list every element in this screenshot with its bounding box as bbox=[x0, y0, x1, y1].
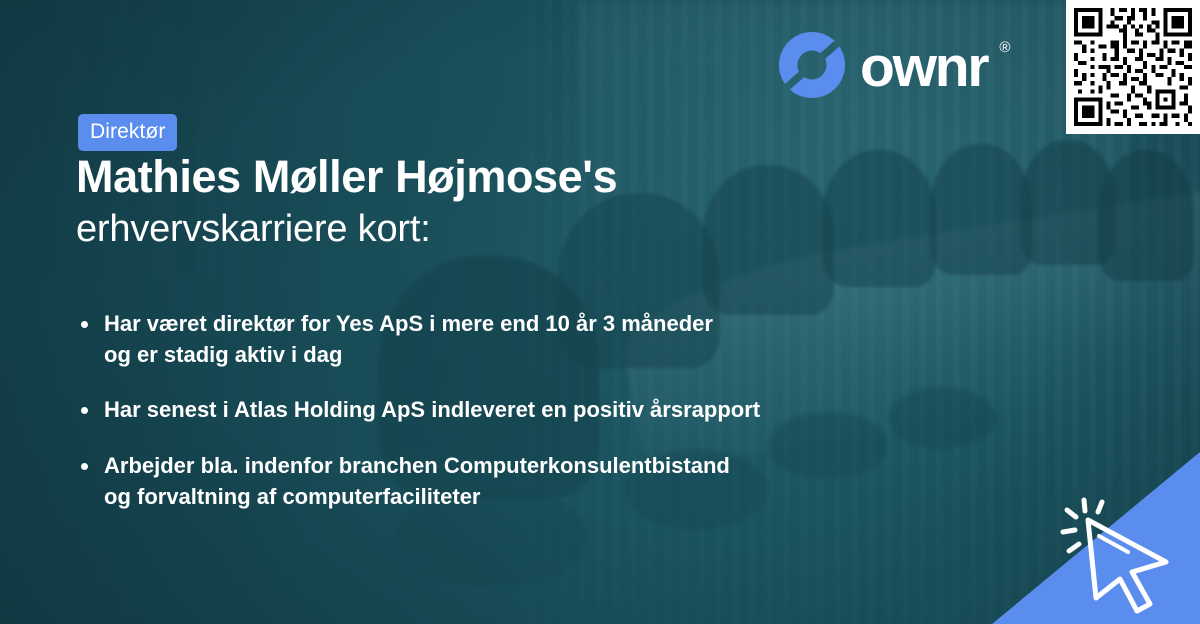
headline-line-2: erhvervskarriere kort: bbox=[76, 206, 956, 252]
role-badge: Direktør bbox=[78, 114, 177, 151]
ownr-logo: ownr ® bbox=[778, 31, 1012, 99]
headline-line-1: Mathies Møller Højmose's bbox=[76, 152, 956, 202]
list-item-line-2: og er stadig aktiv i dag bbox=[104, 339, 978, 370]
business-card-banner: Direktør Mathies Møller Højmose's erhver… bbox=[0, 0, 1200, 624]
career-summary-list: Har været direktør for Yes ApS i mere en… bbox=[78, 308, 978, 512]
page-title: Mathies Møller Højmose's erhvervskarrier… bbox=[76, 152, 956, 253]
registered-trademark-icon: ® bbox=[999, 39, 1010, 56]
list-item-line-1: Har været direktør for Yes ApS i mere en… bbox=[104, 311, 713, 336]
list-item: Arbejder bla. indenfor branchen Computer… bbox=[78, 450, 978, 512]
bullet-dot-icon bbox=[81, 407, 88, 414]
card-content: Direktør Mathies Møller Højmose's erhver… bbox=[0, 0, 1200, 624]
qr-code[interactable] bbox=[1066, 0, 1200, 134]
bullet-dot-icon bbox=[81, 463, 88, 470]
list-item-line-1: Har senest i Atlas Holding ApS indlevere… bbox=[104, 397, 760, 422]
list-item: Har været direktør for Yes ApS i mere en… bbox=[78, 308, 978, 370]
list-item-line-1: Arbejder bla. indenfor branchen Computer… bbox=[104, 453, 730, 478]
list-item: Har senest i Atlas Holding ApS indlevere… bbox=[78, 394, 978, 425]
bullet-dot-icon bbox=[81, 321, 88, 328]
ownr-circle-logo-icon bbox=[778, 31, 846, 99]
click-cursor-icon bbox=[1054, 488, 1184, 616]
ownr-wordmark: ownr bbox=[860, 39, 987, 96]
list-item-line-2: og forvaltning af computerfaciliteter bbox=[104, 481, 978, 512]
